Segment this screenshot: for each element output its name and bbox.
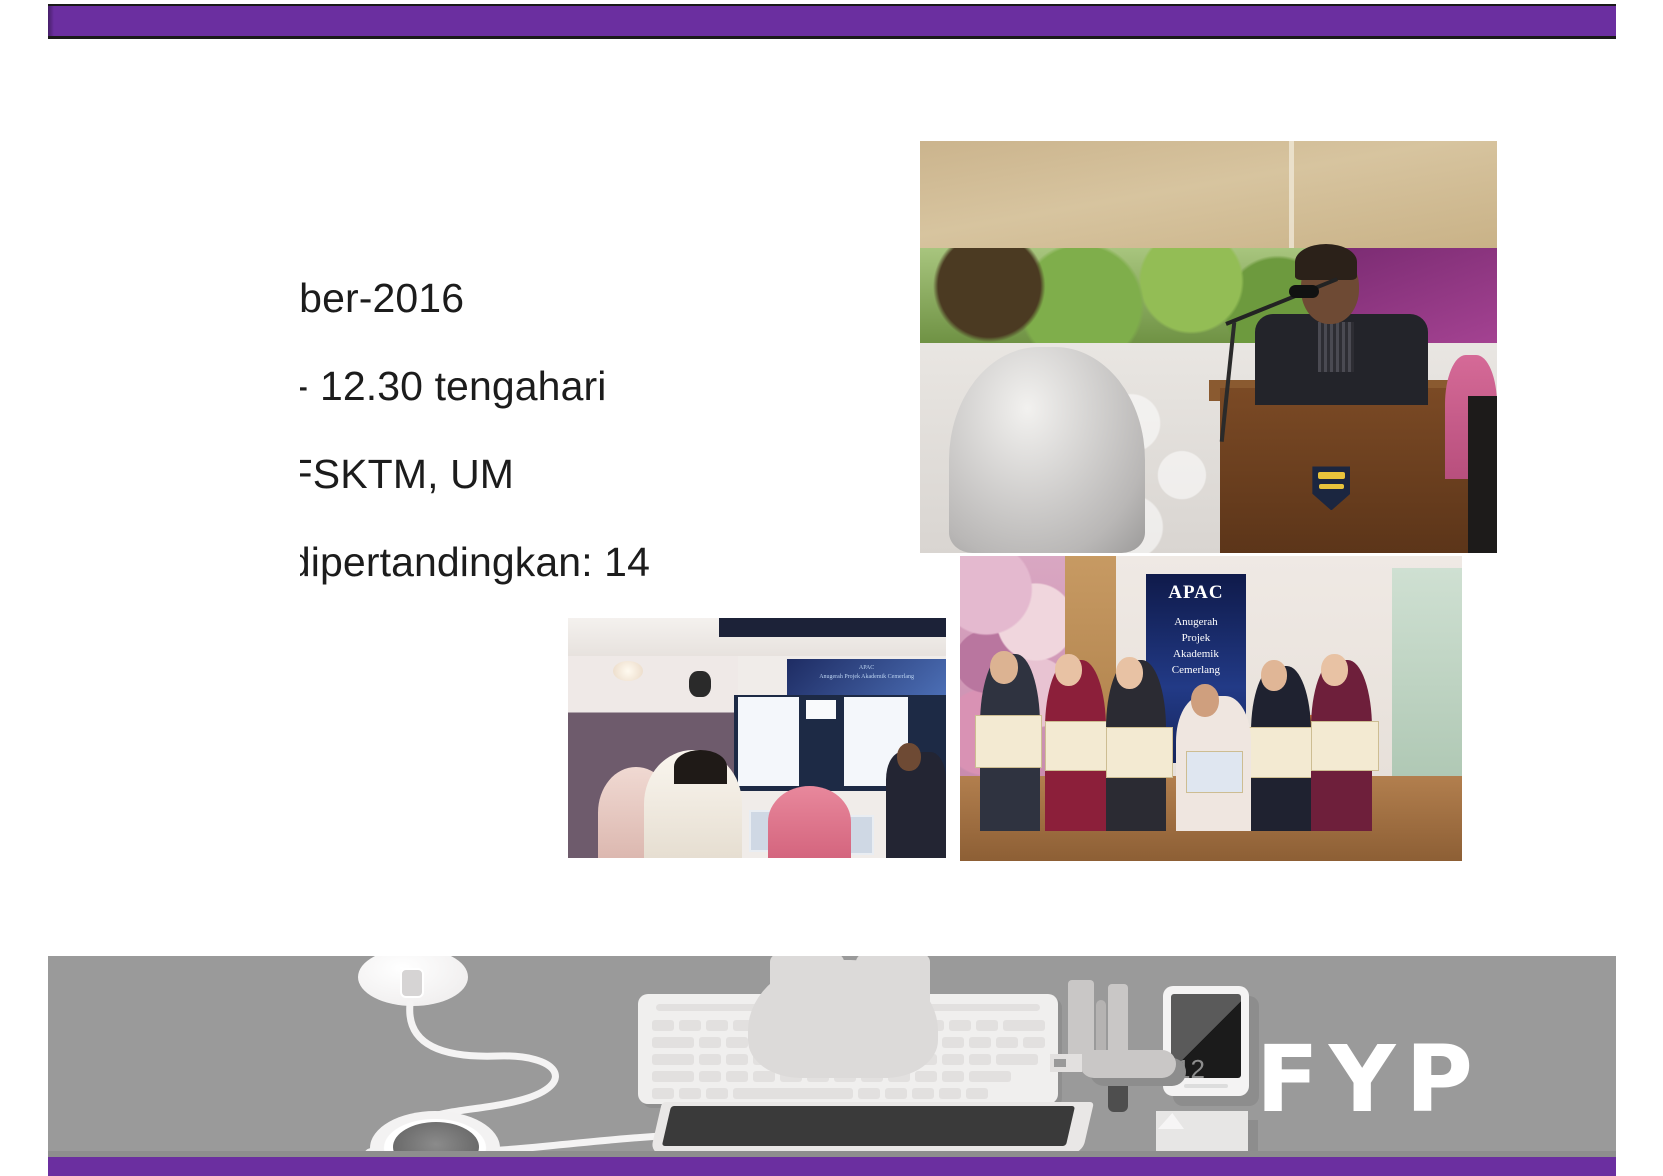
certificate-4 <box>1246 727 1313 778</box>
usb-flash-drive-icon <box>1080 1050 1176 1078</box>
text-line-time: Masa: 9.00 pagi - 12.30 tengahari <box>300 366 940 454</box>
presentation-slide: Tarikh: 14-Disember-2016 Masa: 9.00 pagi… <box>0 0 1663 1176</box>
award-winner-seated-head <box>1191 684 1219 717</box>
usb-plug-icon <box>1050 1054 1082 1072</box>
poster-panel-center <box>806 700 836 719</box>
award-winner-2-head <box>1055 654 1082 686</box>
apac-banner-sub-3: Akademik <box>1146 647 1246 663</box>
speaker-at-podium-photo <box>920 141 1497 553</box>
poster-attendee-3 <box>768 786 851 858</box>
award-winner-5-head <box>1321 654 1348 686</box>
speaker-shirt <box>1318 322 1354 372</box>
typing-hands-icon <box>748 960 938 1078</box>
laptop-screen <box>650 1102 1094 1154</box>
text-line-date: Tarikh: 14-Disember-2016 <box>300 278 940 366</box>
speaker-hair <box>1295 244 1357 280</box>
poster-presenter-head <box>897 743 921 771</box>
certificate-5 <box>1311 721 1378 772</box>
page-number: 12 <box>1176 1054 1205 1085</box>
certificate-seated <box>1186 751 1243 793</box>
apac-banner-sub-4: Cemerlang <box>1146 663 1246 679</box>
keyboard-row-5 <box>652 1088 988 1099</box>
apac-banner-sub-1: Anugerah <box>1146 615 1246 631</box>
audience-member-foreground <box>949 347 1145 553</box>
award-winner-1-head <box>990 651 1018 684</box>
text-line-venue: Tempat: Dewan FSKTM, UM <box>300 454 940 542</box>
award-winner-3-head <box>1116 657 1143 689</box>
apac-banner-sub-2: Projek <box>1146 631 1246 647</box>
award-winners-group-photo: APAC Anugerah Projek Akademik Cemerlang <box>960 556 1462 861</box>
poster-panel-left <box>738 697 798 786</box>
certificate-2 <box>1045 721 1112 772</box>
text-line-date-label: Tarikh: 14-Disember-2016 <box>300 278 464 319</box>
poster-screen-subtitle: Anugerah Projek Akademik Cemerlang <box>810 673 923 682</box>
certificate-1 <box>975 715 1042 769</box>
laptop-keyboard-icon <box>638 994 1098 1156</box>
text-line-poster-count-label: Bilangan poster dipertandingkan: 14 <box>300 542 650 583</box>
podium-blind <box>1289 141 1294 248</box>
award-winner-4-head <box>1261 660 1287 691</box>
bottom-brand-bar <box>48 1157 1616 1176</box>
laptop-screen-display <box>662 1106 1075 1146</box>
slide-body-text: Tarikh: 14-Disember-2016 Masa: 9.00 pagi… <box>300 278 940 630</box>
certificate-3 <box>1106 727 1173 778</box>
poster-wall-speaker-icon <box>689 671 711 697</box>
fyp-wordmark: FYP <box>1256 1034 1483 1126</box>
top-brand-bar <box>48 4 1616 39</box>
group-glass-panel <box>1392 568 1462 788</box>
poster-presentation-photo: APAC Anugerah Projek Akademik Cemerlang <box>568 618 946 858</box>
apac-banner-title: APAC <box>1146 583 1246 602</box>
poster-ceiling-beam <box>719 618 946 637</box>
text-line-time-label: Masa: 9.00 pagi - 12.30 tengahari <box>300 366 606 407</box>
audience-member-right <box>1468 396 1497 553</box>
poster-attendee-2-hair <box>674 750 727 784</box>
poster-screen-text: APAC Anugerah Projek Akademik Cemerlang <box>810 664 923 688</box>
poster-screen-title: APAC <box>810 664 923 673</box>
text-line-poster-count: Bilangan poster dipertandingkan: 14 <box>300 542 940 630</box>
microphone-head-icon <box>1289 285 1319 298</box>
text-line-venue-label: Tempat: Dewan FSKTM, UM <box>300 454 514 495</box>
podium-ceiling <box>920 141 1497 248</box>
stylus-tip <box>1108 1086 1128 1112</box>
